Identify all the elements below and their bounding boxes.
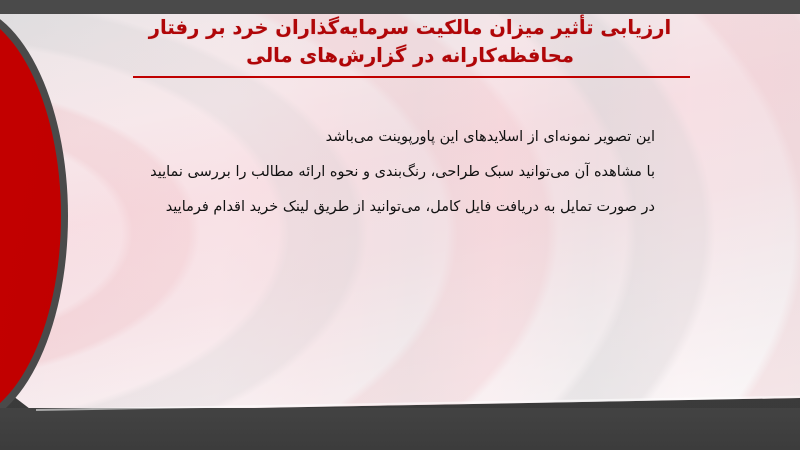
- slide-title-line-2: محافظه‌کارانه در گزارش‌های مالی: [110, 42, 710, 70]
- slide-title-line-1: ارزیابی تأثیر میزان مالکیت سرمایه‌گذاران…: [110, 14, 710, 42]
- slide-body-text: این تصویر نمونه‌ای از اسلایدهای این پاور…: [135, 120, 655, 225]
- left-red-arc-shape: [0, 9, 61, 423]
- bottom-dark-band: [0, 408, 800, 450]
- body-line-2: با مشاهده آن می‌توانید سبک طراحی، رنگ‌بن…: [135, 155, 655, 190]
- left-decoration-group: [0, 0, 72, 450]
- slide-title: ارزیابی تأثیر میزان مالکیت سرمایه‌گذاران…: [110, 14, 710, 70]
- title-underline-rule: [133, 76, 690, 78]
- body-line-3: در صورت تمایل به دریافت فایل کامل، می‌تو…: [135, 190, 655, 225]
- body-line-1: این تصویر نمونه‌ای از اسلایدهای این پاور…: [135, 120, 655, 155]
- presentation-slide: ارزیابی تأثیر میزان مالکیت سرمایه‌گذاران…: [0, 0, 800, 450]
